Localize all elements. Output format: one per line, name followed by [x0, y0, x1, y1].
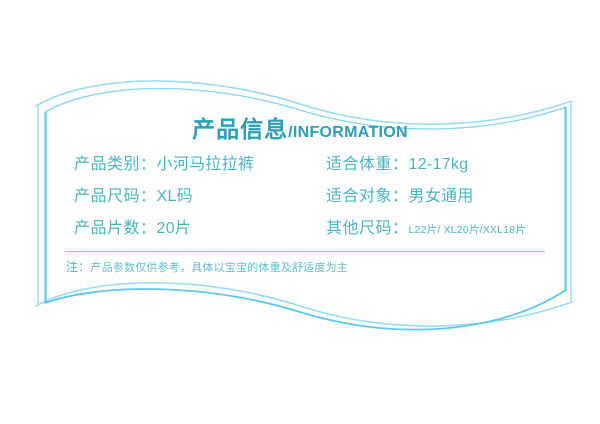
- spec-value: 小河马拉拉裤: [157, 150, 255, 174]
- spec-suitable-weight: 适合体重： 12-17kg: [326, 150, 544, 174]
- spec-label: 产品尺码：: [74, 182, 157, 206]
- spec-label: 产品片数：: [74, 214, 157, 238]
- spec-value: XL码: [157, 182, 193, 206]
- spec-value: 男女通用: [409, 182, 474, 206]
- spec-label: 适合对象：: [326, 182, 409, 206]
- spec-value: L22片/ XL20片/XXL18片: [409, 222, 526, 237]
- spec-product-size: 产品尺码： XL码: [74, 182, 326, 206]
- spec-suitable-gender: 适合对象： 男女通用: [326, 182, 544, 206]
- spec-other-sizes: 其他尺码： L22片/ XL20片/XXL18片: [326, 214, 544, 238]
- spec-product-category: 产品类别： 小河马拉拉裤: [74, 150, 326, 174]
- note-divider: [65, 251, 545, 252]
- spec-label: 产品类别：: [74, 150, 157, 174]
- table-row: 产品尺码： XL码 适合对象： 男女通用: [74, 182, 544, 214]
- specification-table: 产品类别： 小河马拉拉裤 适合体重： 12-17kg 产品尺码： XL码 适合对…: [74, 150, 544, 246]
- table-row: 产品类别： 小河马拉拉裤 适合体重： 12-17kg: [74, 150, 544, 182]
- product-information-card: 产品信息/INFORMATION 产品类别： 小河马拉拉裤 适合体重： 12-1…: [0, 0, 600, 424]
- spec-piece-count: 产品片数： 20片: [74, 214, 326, 238]
- spec-value: 12-17kg: [409, 156, 469, 174]
- spec-label: 适合体重：: [326, 150, 409, 174]
- footnote: 注：产品参数仅供参考，具体以宝宝的体重及舒适度为主: [66, 258, 348, 275]
- footnote-text: 产品参数仅供参考，具体以宝宝的体重及舒适度为主: [90, 262, 348, 274]
- spec-label: 其他尺码：: [326, 214, 409, 238]
- table-row: 产品片数： 20片 其他尺码： L22片/ XL20片/XXL18片: [74, 214, 544, 246]
- footnote-tag: 注：: [66, 260, 90, 274]
- spec-value: 20片: [157, 214, 192, 238]
- title-chinese: 产品信息: [192, 116, 288, 142]
- title-english: /INFORMATION: [288, 124, 408, 141]
- page-title: 产品信息/INFORMATION: [0, 118, 600, 141]
- card-content: 产品信息/INFORMATION 产品类别： 小河马拉拉裤 适合体重： 12-1…: [0, 0, 600, 424]
